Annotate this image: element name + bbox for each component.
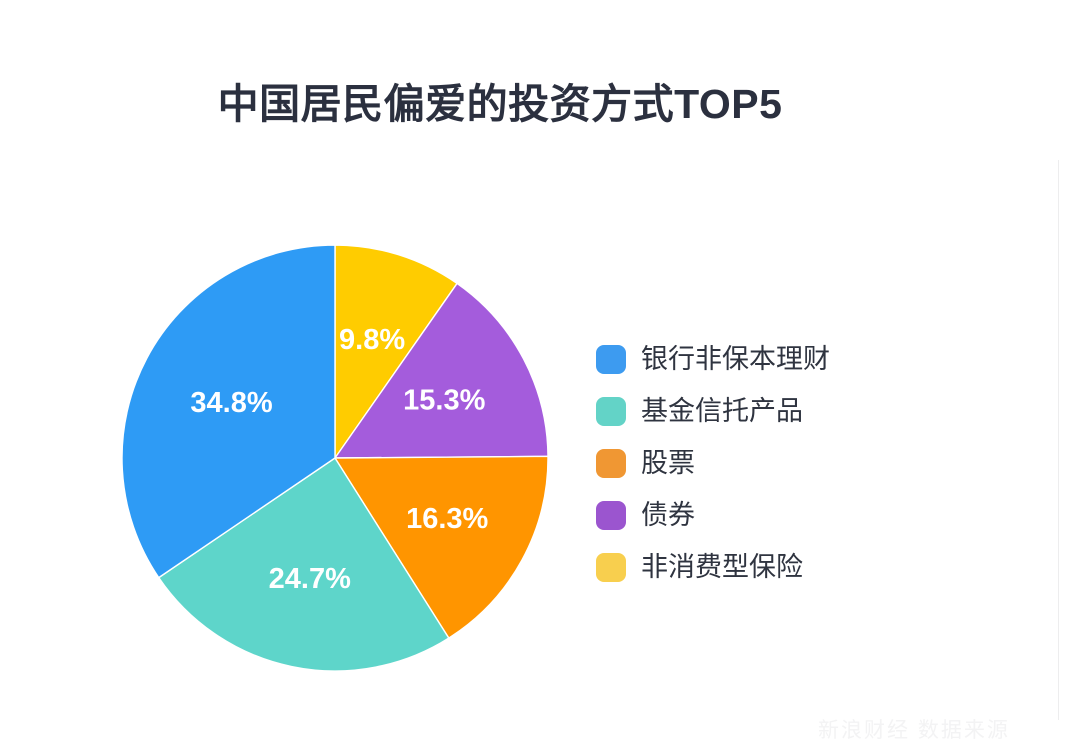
chart-legend: 银行非保本理财基金信托产品股票债券非消费型保险 [596, 333, 896, 593]
pie-slice-label: 34.8% [190, 387, 272, 419]
legend-item[interactable]: 非消费型保险 [596, 541, 896, 593]
page-edge-rule [1058, 160, 1059, 720]
legend-item-label: 基金信托产品 [641, 398, 803, 425]
pie-slices [122, 245, 548, 671]
pie-slice-label: 9.8% [339, 324, 405, 356]
legend-color-swatch [596, 501, 626, 530]
legend-item-label: 股票 [641, 450, 695, 477]
legend-item-label: 债券 [641, 502, 695, 529]
legend-color-swatch [596, 449, 626, 478]
legend-item[interactable]: 债券 [596, 489, 896, 541]
pie-chart-svg: 9.8%15.3%16.3%24.7%34.8% [120, 243, 550, 673]
chart-title: 中国居民偏爱的投资方式TOP5 [0, 82, 1068, 127]
legend-color-swatch [596, 553, 626, 582]
pie-slice-label: 15.3% [403, 385, 485, 417]
legend-item[interactable]: 股票 [596, 437, 896, 489]
legend-color-swatch [596, 345, 626, 374]
legend-item-label: 非消费型保险 [641, 554, 803, 581]
pie-slice-label: 16.3% [406, 503, 488, 535]
chart-figure: 中国居民偏爱的投资方式TOP5 9.8%15.3%16.3%24.7%34.8%… [0, 0, 1068, 754]
legend-item[interactable]: 银行非保本理财 [596, 333, 896, 385]
legend-color-swatch [596, 397, 626, 426]
legend-item-label: 银行非保本理财 [641, 346, 830, 373]
legend-item[interactable]: 基金信托产品 [596, 385, 896, 437]
pie-slice-label: 24.7% [269, 563, 351, 595]
pie-chart: 9.8%15.3%16.3%24.7%34.8% [120, 243, 550, 673]
watermark: 新浪财经 数据来源 [818, 714, 1050, 740]
